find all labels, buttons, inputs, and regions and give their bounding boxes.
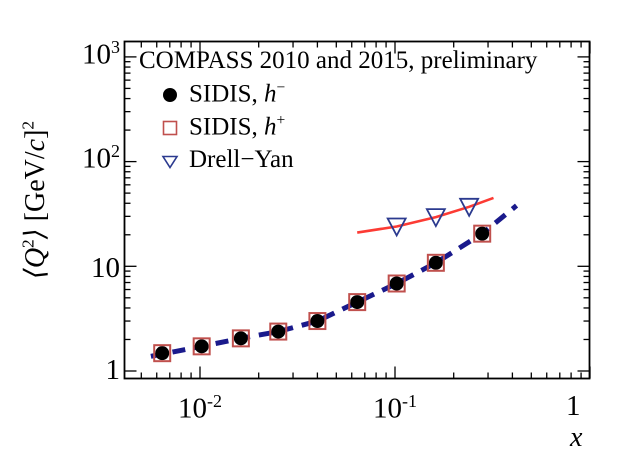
x-tick-base-1e-1: 10 (373, 393, 402, 425)
legend-title: COMPASS 2010 and 2015, preliminary (139, 48, 537, 73)
y-tick-base-1: 1 (106, 354, 121, 386)
filled-circle-marker (429, 256, 443, 270)
y-tick-base-100: 10 (82, 143, 111, 175)
filled-circle-marker (234, 331, 248, 345)
x-tick-label-1e-1: 10-1 (353, 392, 437, 424)
x-tick-label-1: 1 (566, 392, 606, 421)
legend-label-drell-yan: Drell−Yan (189, 147, 294, 172)
x-tick-base-1: 1 (566, 390, 581, 422)
legend-label-sidis-minus-sup: − (277, 79, 286, 96)
filled-circle-marker (155, 346, 169, 360)
x-tick-label-1e-2: 10-2 (158, 392, 242, 424)
y-tick-base-10: 10 (91, 252, 120, 284)
open-triangle-down-marker (151, 147, 189, 172)
legend-label-sidis-plus-sup: + (277, 112, 286, 129)
x-tick-base-1e-2: 10 (178, 393, 207, 425)
filled-circle-marker (271, 325, 285, 339)
legend-label-sidis-minus-text: SIDIS, (189, 81, 258, 108)
y-axis-title: ⟨Q2⟩ [GeV/c]2 (18, 50, 58, 350)
filled-circle-marker (475, 227, 489, 241)
y-tick-label-100: 102 (42, 142, 120, 174)
legend-label-sidis-minus-math: h (264, 81, 277, 108)
legend-label-sidis-plus: SIDIS, h+ (189, 113, 285, 139)
open-square-marker (151, 114, 189, 139)
filled-circle-marker (310, 314, 324, 328)
legend-entry-sidis-minus: SIDIS, h− (151, 77, 537, 110)
y-tick-sup-1000: 3 (111, 37, 120, 57)
y-tick-sup-100: 2 (111, 141, 120, 161)
legend-label-sidis-plus-math: h (264, 114, 277, 141)
legend-entry-sidis-plus: SIDIS, h+ (151, 110, 537, 143)
filled-circle-marker (350, 295, 364, 309)
legend-label-sidis-plus-text: SIDIS, (189, 114, 258, 141)
filled-circle-marker (195, 339, 209, 353)
filled-circle-marker (151, 81, 189, 106)
y-tick-label-1000: 103 (42, 38, 120, 70)
chart-figure: ⟨Q2⟩ [GeV/c]2 103 102 10 1 10-2 10-1 1 x… (0, 0, 619, 465)
x-axis-title: x (570, 424, 582, 452)
x-tick-sup-1e-2: -2 (207, 391, 222, 411)
x-tick-sup-1e-1: -1 (402, 391, 417, 411)
y-tick-base-1000: 10 (82, 39, 111, 71)
y-tick-label-10: 10 (42, 254, 120, 283)
y-tick-label-1: 1 (42, 356, 120, 385)
legend-label-sidis-minus: SIDIS, h− (189, 80, 285, 106)
legend-entry-drell-yan: Drell−Yan (151, 143, 537, 176)
filled-circle-marker (390, 277, 404, 291)
legend: COMPASS 2010 and 2015, preliminary SIDIS… (139, 48, 537, 176)
